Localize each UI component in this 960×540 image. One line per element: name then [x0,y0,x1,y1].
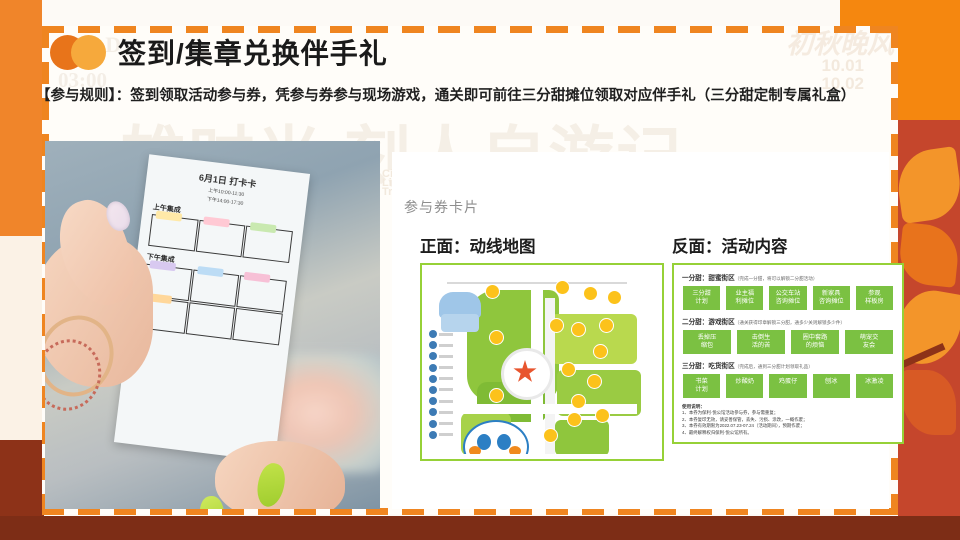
card-back-column: 反面：活动内容 一分甜：甜蜜街区（完成一分甜，将可以解锁二分甜活动） 三分甜计划… [672,233,904,444]
legend-label-bar [439,411,453,414]
terms-line: 4、最终解释权归保利·悦公馆所有。 [682,430,894,436]
activity-chip[interactable]: 业主福利摊位 [725,285,764,311]
activity-chip[interactable]: 击倒生活的苦 [736,329,786,355]
legend-label-bar [439,344,453,347]
tier-note: （通关获得印章解锁三分甜，通多少关则解锁多少件） [735,320,845,325]
map-pin-icon [543,428,558,443]
tier-title: 一分甜：甜蜜街区 [682,275,735,282]
map-top-road [447,282,627,284]
map-pin-icon [571,322,586,337]
legend-dot-icon [429,364,437,372]
activity-chip[interactable]: 圈中套路的烦恼 [790,329,840,355]
activity-chip[interactable]: 三分甜计划 [682,285,721,311]
stamp-box [243,226,293,263]
map-pin-icon [595,408,610,423]
card-back-content: 一分甜：甜蜜街区（完成一分甜，将可以解锁二分甜活动） 三分甜计划 业主福利摊位 … [674,265,902,442]
legend-item [429,386,457,394]
legend-label-bar [439,366,453,369]
activity-chip[interactable]: 萌宠交友会 [844,329,894,355]
stamp-box [148,214,198,251]
legend-dot-icon [429,431,437,439]
tier-note: （完成一分甜，将可以解锁二分甜活动） [735,276,818,281]
map-pin-icon [561,362,576,377]
legend-item [429,341,457,349]
map-pin-icon [593,344,608,359]
tier-block: 三分甜：吃货街区（完成后，通到三分甜计划领取礼品） 书菜计划 炒酸奶 鸡蛋仔 刨… [682,360,894,399]
panel-label: 参与券卡片 [404,197,479,217]
legend-item [429,408,457,416]
card-front-column: 正面：动线地图 [420,233,664,461]
legend-item [429,431,457,439]
map-pin-icon [485,284,500,299]
legend-dot-icon [429,408,437,416]
stamp-card-grid-pm [138,264,287,346]
tier-items: 丢掉压缩包 击倒生活的苦 圈中套路的烦恼 萌宠交友会 [682,329,894,355]
watermark-date-1: 10.01 [821,56,864,76]
circle-badge-icon [71,35,106,70]
legend-item [429,420,457,428]
map-green-area [555,420,609,454]
terms-block: 使用说明： 1、本券为保利·悦公馆活动参与券，参与需重复； 2、本券复印无效，请… [682,404,894,436]
rules-text: 【参与规则】：签到领取活动参与券，凭参与券参与现场游戏，通关即可前往三分甜摊位领… [36,84,902,108]
activity-chip[interactable]: 参观样板房 [855,285,894,311]
card-back-heading: 反面：活动内容 [672,233,904,257]
legend-dot-icon [429,352,437,360]
stamp-box [233,308,283,345]
legend-label-bar [439,400,453,403]
legend-label-bar [439,377,453,380]
legend-item [429,352,457,360]
card-front-heading: 正面：动线地图 [420,233,664,257]
map-pin-icon [489,388,504,403]
map-pin-icon [607,290,622,305]
route-map [427,270,657,454]
activity-chip[interactable]: 刨冰 [812,373,851,399]
tier-block: 二分甜：游戏街区（通关获得印章解锁三分甜，通多少关则解锁多少件） 丢掉压缩包 击… [682,316,894,355]
terms-title: 使用说明： [682,404,705,409]
activity-chip[interactable]: 公交车站咨询摊位 [768,285,807,311]
legend-label-bar [439,333,453,336]
map-pin-icon [583,286,598,301]
map-pin-icon [571,394,586,409]
legend-item [429,330,457,338]
tier-heading: 一分甜：甜蜜街区（完成一分甜，将可以解锁二分甜活动） [682,272,894,282]
route-map-frame [420,263,664,461]
stamp-box [185,302,235,339]
decor-left-cream-band [0,236,42,451]
event-photo: 6月1日 打卡卡 上午10:00-11:30 下午14:00-17:30 上午集… [45,141,380,509]
stamp-box [237,275,287,312]
legend-dot-icon [429,420,437,428]
dashed-border-bottom [42,508,898,515]
legend-dot-icon [429,330,437,338]
legend-item [429,397,457,405]
card-back-frame: 一分甜：甜蜜街区（完成一分甜，将可以解锁二分甜活动） 三分甜计划 业主福利摊位 … [672,263,904,444]
map-pin-icon [489,330,504,345]
map-pin-icon [599,318,614,333]
stamp-box [189,269,239,306]
activity-chip[interactable]: 冰激凌 [855,373,894,399]
legend-label-bar [439,422,453,425]
tier-note: （完成后，通到三分甜计划领取礼品） [735,364,813,369]
mascot-cheek [469,446,481,454]
legend-dot-icon [429,386,437,394]
tier-heading: 二分甜：游戏街区（通关获得印章解锁三分甜，通多少关则解锁多少件） [682,316,894,326]
legend-item [429,364,457,372]
legend-label-bar [439,388,453,391]
tier-items: 三分甜计划 业主福利摊位 公交车站咨询摊位 新家具咨询摊位 参观样板房 [682,285,894,311]
legend-dot-icon [429,397,437,405]
stamp-box [195,220,245,257]
activity-chip[interactable]: 鸡蛋仔 [768,373,807,399]
page-title: 签到/集章兑换伴手礼 [118,32,388,72]
tier-heading: 三分甜：吃货街区（完成后，通到三分甜计划领取礼品） [682,360,894,370]
legend-item [429,375,457,383]
legend-label-bar [439,433,453,436]
map-pin-icon [587,374,602,389]
activity-chip[interactable]: 新家具咨询摊位 [812,285,851,311]
map-legend [429,330,457,442]
legend-dot-icon [429,341,437,349]
legend-label-bar [439,355,453,358]
slide-root: WILD 03:00 初秋晚风 10.01 10.02 雄时光 刻人自游记 Ci… [0,0,960,540]
activity-chip[interactable]: 书菜计划 [682,373,721,399]
mascot-cheek [509,446,521,454]
legend-dot-icon [429,375,437,383]
tier-items: 书菜计划 炒酸奶 鸡蛋仔 刨冰 冰激凌 [682,373,894,399]
tier-title: 三分甜：吃货街区 [682,363,735,370]
tier-block: 一分甜：甜蜜街区（完成一分甜，将可以解锁二分甜活动） 三分甜计划 业主福利摊位 … [682,272,894,311]
tier-title: 二分甜：游戏街区 [682,319,735,326]
map-pin-icon [549,318,564,333]
page-header: 签到/集章兑换伴手礼 [50,32,388,72]
activity-chip[interactable]: 丢掉压缩包 [682,329,732,355]
decor-bottom-dark-band [0,516,960,540]
map-pin-icon [567,412,582,427]
activity-chip[interactable]: 炒酸奶 [725,373,764,399]
map-pin-icon [555,280,570,295]
